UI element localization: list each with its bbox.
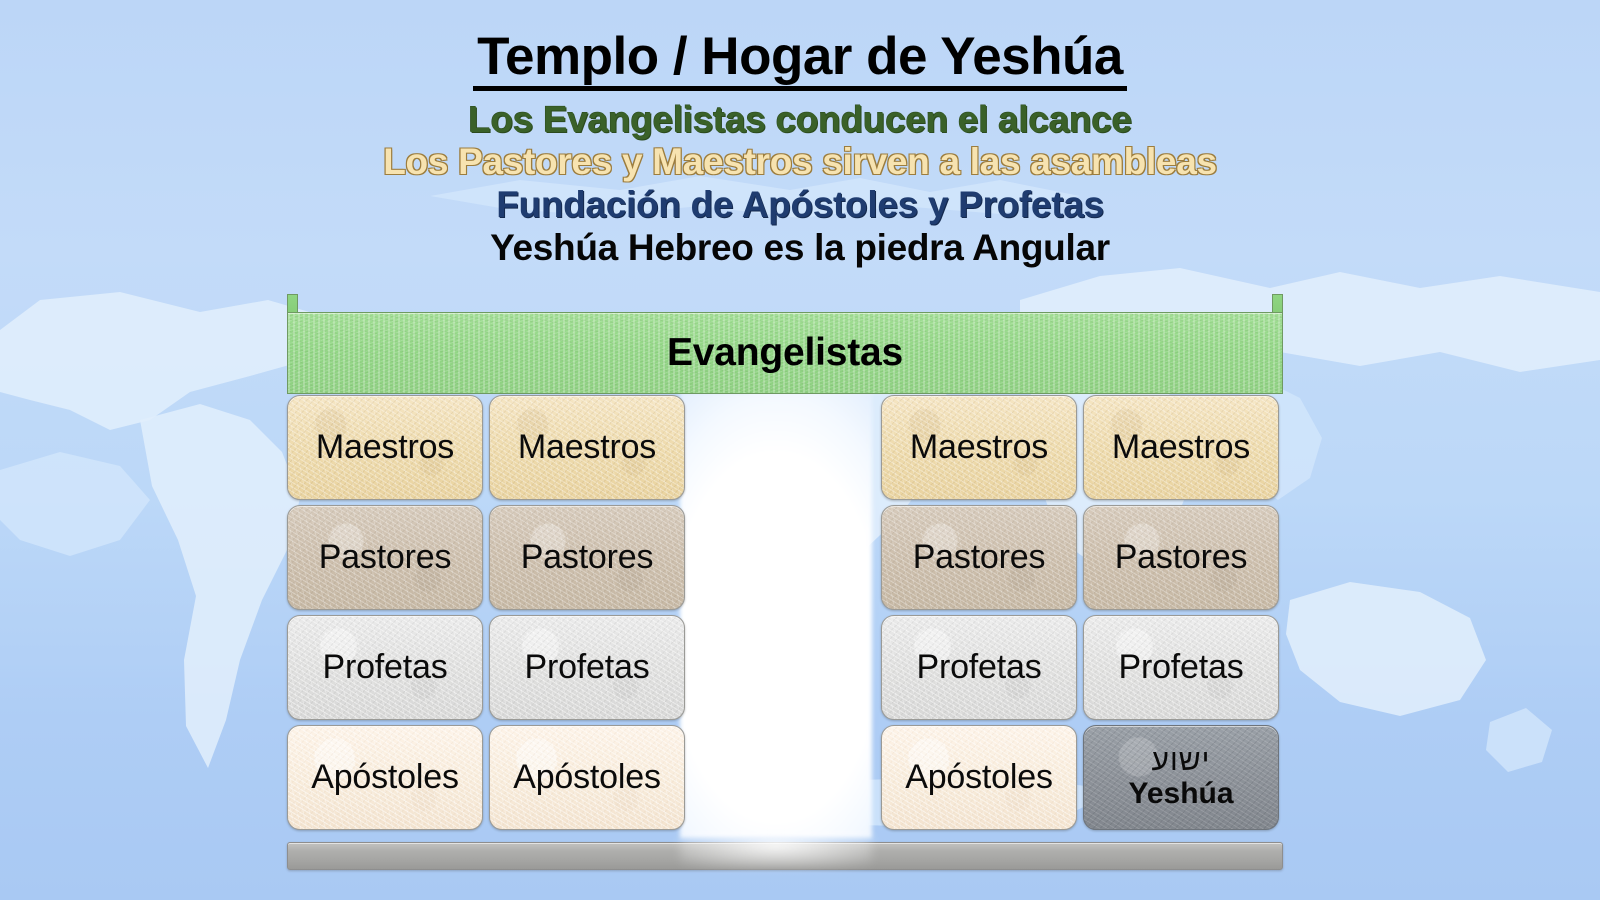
brick-label: Pastores	[1115, 539, 1248, 576]
subtitle-pastors-teachers: Los Pastores y Maestros sirven a las asa…	[0, 142, 1600, 181]
brick-pastores-3: Pastores	[881, 505, 1077, 610]
evangelists-banner: Evangelistas	[287, 294, 1283, 394]
brick-profetas-3: Profetas	[881, 615, 1077, 720]
brick-maestros-4: Maestros	[1083, 395, 1279, 500]
slide-canvas: Templo / Hogar de Yeshúa Los Evangelista…	[0, 0, 1600, 900]
temple-diagram: Evangelistas MaestrosMaestrosMaestrosMae…	[287, 294, 1283, 860]
brick-label: Apóstoles	[513, 759, 661, 796]
brick-maestros-1: Maestros	[287, 395, 483, 500]
brick-label: Pastores	[319, 539, 452, 576]
brick-label: Pastores	[521, 539, 654, 576]
brick-label: Pastores	[913, 539, 1046, 576]
foundation-slab	[287, 842, 1283, 870]
brick-label: Apóstoles	[311, 759, 459, 796]
brick-label: Apóstoles	[905, 759, 1053, 796]
subtitle-foundation: Fundación de Apóstoles y Profetas	[0, 185, 1600, 224]
brick-label: Profetas	[1118, 649, 1243, 686]
brick-label: Profetas	[524, 649, 649, 686]
brick-apostoles-2: Apóstoles	[489, 725, 685, 830]
brick-profetas-2: Profetas	[489, 615, 685, 720]
brick-apostoles-3: Apóstoles	[881, 725, 1077, 830]
banner-label: Evangelistas	[667, 331, 903, 375]
brick-grid: MaestrosMaestrosMaestrosMaestrosPastores…	[287, 395, 1283, 835]
brick-maestros-2: Maestros	[489, 395, 685, 500]
brick-maestros-3: Maestros	[881, 395, 1077, 500]
subtitle-evangelists: Los Evangelistas conducen el alcance	[0, 100, 1600, 139]
brick-label: Profetas	[322, 649, 447, 686]
brick-profetas-1: Profetas	[287, 615, 483, 720]
heading-block: Templo / Hogar de Yeshúa Los Evangelista…	[0, 30, 1600, 267]
subtitle-cornerstone: Yeshúa Hebreo es la piedra Angular	[0, 228, 1600, 267]
page-title: Templo / Hogar de Yeshúa	[473, 30, 1127, 91]
brick-label: Maestros	[316, 429, 454, 466]
brick-pastores-1: Pastores	[287, 505, 483, 610]
cornerstone-hebrew-label: ישוע	[1128, 746, 1233, 777]
banner-tab-left	[287, 294, 298, 314]
brick-label: Profetas	[916, 649, 1041, 686]
brick-pastores-2: Pastores	[489, 505, 685, 610]
brick-apostoles-1: Apóstoles	[287, 725, 483, 830]
banner-tab-right	[1272, 294, 1283, 314]
brick-label: Maestros	[1112, 429, 1250, 466]
brick-label: Maestros	[518, 429, 656, 466]
brick-label: Maestros	[910, 429, 1048, 466]
cornerstone-latin-label: Yeshúa	[1128, 779, 1233, 810]
banner-body: Evangelistas	[287, 312, 1283, 394]
brick-pastores-4: Pastores	[1083, 505, 1279, 610]
brick-cornerstone-yeshua: ישועYeshúa	[1083, 725, 1279, 830]
brick-profetas-4: Profetas	[1083, 615, 1279, 720]
